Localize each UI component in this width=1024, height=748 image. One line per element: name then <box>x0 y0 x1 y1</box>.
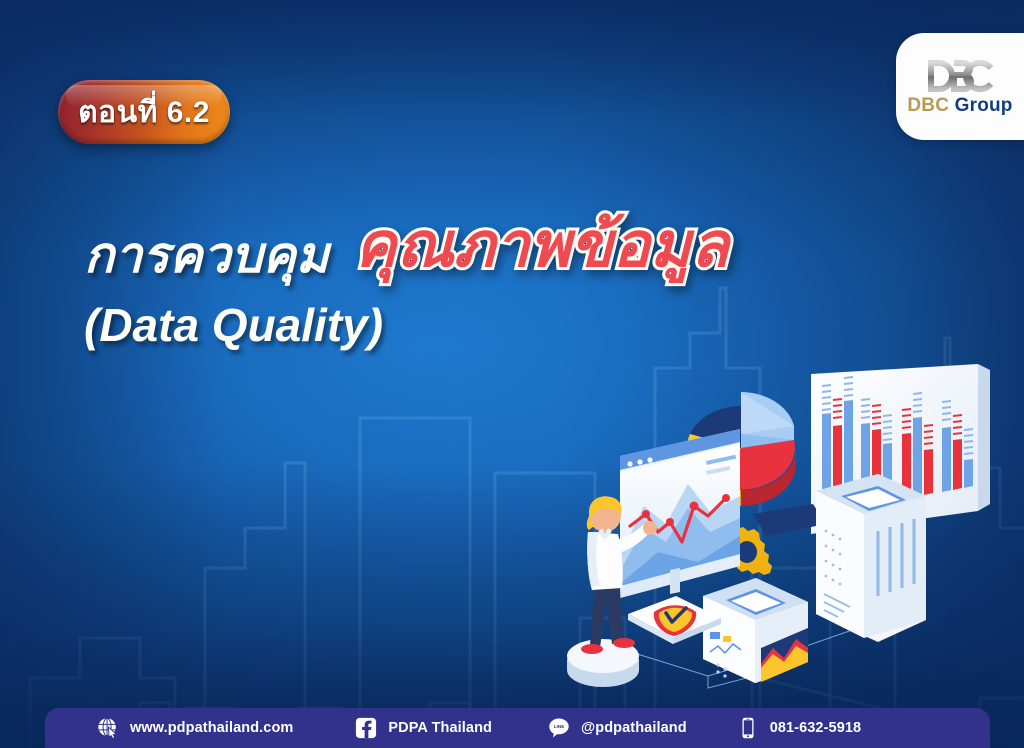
footer-item-website[interactable]: www.pdpathailand.com <box>97 717 293 739</box>
footer-item-phone[interactable]: 081-632-5918 <box>737 717 862 739</box>
title-line-2: (Data Quality) <box>84 298 844 352</box>
dbc-monogram-icon <box>923 58 997 94</box>
contact-footer-bar: www.pdpathailand.com PDPA Thailand LINE … <box>45 708 990 748</box>
server-rack <box>816 474 926 642</box>
phone-icon <box>737 717 759 739</box>
area-chart-screen <box>620 429 740 598</box>
logo-word-secondary: Group <box>955 95 1013 116</box>
title-subtitle: (Data Quality) <box>84 299 383 351</box>
footer-line-label: @pdpathailand <box>581 720 687 736</box>
title-prefix: การควบคุม <box>84 226 329 285</box>
footer-facebook-label: PDPA Thailand <box>388 720 492 736</box>
title-highlight: คุณภาพข้อมูล <box>355 212 729 280</box>
data-analytics-illustration <box>558 356 1024 696</box>
footer-website-label: www.pdpathailand.com <box>130 720 293 736</box>
slide-canvas: ตอนที่ 6.2 DBC Group การควบคุม คุณภา <box>0 0 1024 748</box>
page-title: การควบคุม คุณภาพข้อมูล (Data Quality) <box>84 218 844 352</box>
title-line-1: การควบคุม คุณภาพข้อมูล <box>84 218 844 286</box>
episode-badge: ตอนที่ 6.2 <box>58 80 230 144</box>
footer-phone-label: 081-632-5918 <box>770 720 862 736</box>
footer-item-facebook[interactable]: PDPA Thailand <box>355 717 492 739</box>
footer-item-line[interactable]: LINE @pdpathailand <box>548 717 687 739</box>
data-box <box>703 578 808 683</box>
globe-icon <box>97 717 119 739</box>
logo-word-primary: DBC <box>907 95 949 116</box>
dbc-group-logo: DBC Group <box>896 33 1024 140</box>
facebook-icon <box>355 717 377 739</box>
svg-text:LINE: LINE <box>554 724 565 730</box>
episode-badge-label: ตอนที่ 6.2 <box>78 89 210 136</box>
line-icon: LINE <box>548 717 570 739</box>
dbc-group-wordmark: DBC Group <box>907 96 1012 115</box>
